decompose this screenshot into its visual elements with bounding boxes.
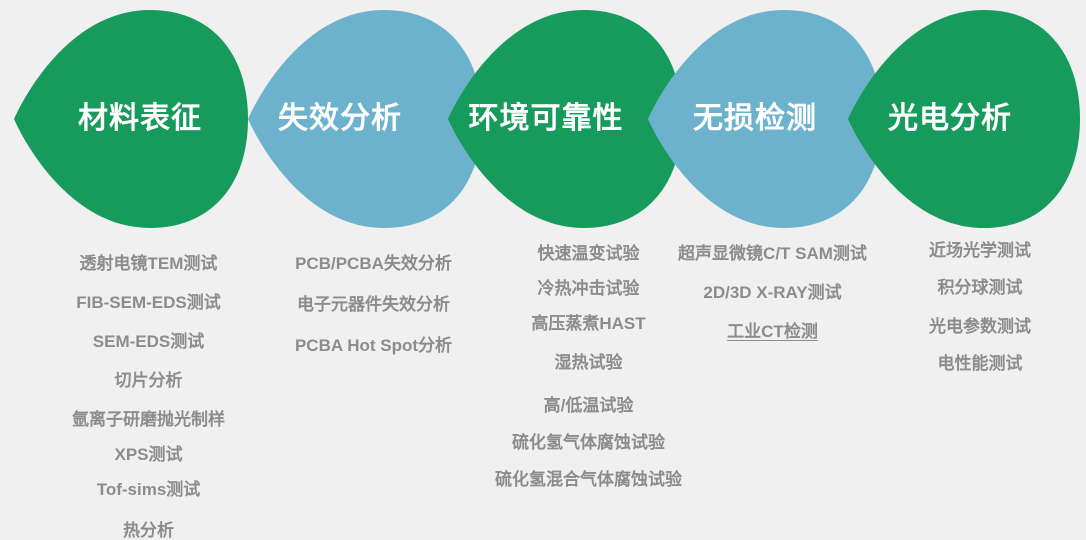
petal-label-4[interactable]: 无损检测	[693, 104, 817, 134]
petal-label-1[interactable]: 材料表征	[78, 104, 202, 134]
list-item[interactable]: 高/低温试验	[466, 397, 711, 414]
list-item[interactable]: 热分析	[36, 522, 261, 539]
list-item[interactable]: 硫化氢混合气体腐蚀试验	[466, 471, 711, 488]
list-item[interactable]: 近场光学测试	[885, 242, 1075, 259]
list-item[interactable]: 硫化氢气体腐蚀试验	[466, 434, 711, 451]
list-item[interactable]: XPS测试	[36, 446, 261, 463]
list-item[interactable]: FIB-SEM-EDS测试	[36, 294, 261, 311]
petal-label-5[interactable]: 光电分析	[888, 104, 1012, 134]
petal-label-2[interactable]: 失效分析	[278, 104, 402, 134]
list-item[interactable]: 湿热试验	[466, 354, 711, 371]
petal-band: 材料表征 失效分析 环境可靠性 无损检测 光电分析	[0, 0, 1086, 230]
list-item[interactable]: 工业CT检测	[650, 323, 895, 340]
capability-columns: 透射电镜TEM测试FIB-SEM-EDS测试SEM-EDS测试切片分析氩离子研磨…	[0, 230, 1086, 527]
capability-infographic: 材料表征 失效分析 环境可靠性 无损检测 光电分析 透射电镜TEM测试FIB-S…	[0, 0, 1086, 527]
capability-column-4: 超声显微镜C/T SAM测试2D/3D X-RAY测试工业CT检测	[650, 230, 895, 340]
petal-labels: 材料表征 失效分析 环境可靠性 无损检测 光电分析	[0, 0, 1086, 230]
list-item[interactable]: PCB/PCBA失效分析	[266, 255, 481, 272]
list-item[interactable]: 透射电镜TEM测试	[36, 255, 261, 272]
list-item[interactable]: 积分球测试	[885, 279, 1075, 296]
list-item[interactable]: Tof-sims测试	[36, 481, 261, 498]
list-item[interactable]: 超声显微镜C/T SAM测试	[650, 245, 895, 262]
list-item[interactable]: 氩离子研磨抛光制样	[36, 411, 261, 428]
capability-column-5: 近场光学测试积分球测试光电参数测试电性能测试	[885, 230, 1075, 372]
list-item[interactable]: PCBA Hot Spot分析	[266, 337, 481, 354]
capability-column-2: PCB/PCBA失效分析电子元器件失效分析PCBA Hot Spot分析	[266, 230, 481, 354]
capability-column-1: 透射电镜TEM测试FIB-SEM-EDS测试SEM-EDS测试切片分析氩离子研磨…	[36, 230, 261, 539]
list-item[interactable]: 2D/3D X-RAY测试	[650, 284, 895, 301]
list-item[interactable]: SEM-EDS测试	[36, 333, 261, 350]
list-item[interactable]: 切片分析	[36, 372, 261, 389]
list-item[interactable]: 光电参数测试	[885, 318, 1075, 335]
petal-label-3[interactable]: 环境可靠性	[469, 104, 624, 134]
list-item[interactable]: 电子元器件失效分析	[266, 296, 481, 313]
list-item[interactable]: 电性能测试	[885, 355, 1075, 372]
